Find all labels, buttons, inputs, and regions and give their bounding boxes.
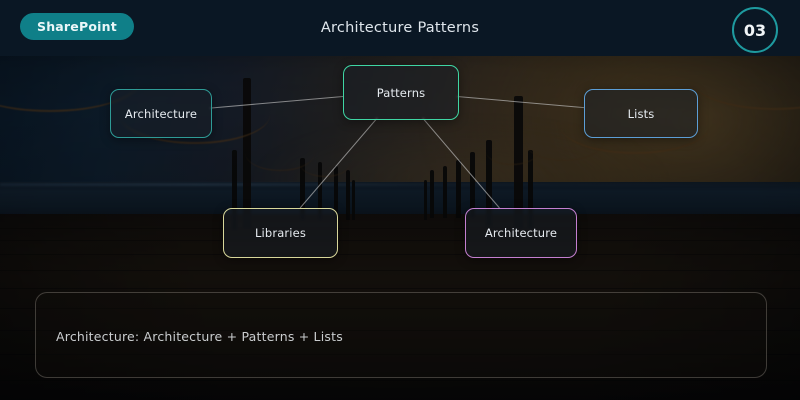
- diagram-node-architecture-2[interactable]: Architecture: [465, 208, 577, 258]
- diagram-node-label: Architecture: [485, 226, 557, 240]
- header-bar: SharePoint Architecture Patterns 03: [0, 0, 800, 56]
- diagram-node-lists[interactable]: Lists: [584, 89, 698, 138]
- diagram-edge: [423, 118, 500, 208]
- diagram-node-architecture[interactable]: Architecture: [110, 89, 212, 138]
- diagram-node-libraries[interactable]: Libraries: [223, 208, 338, 258]
- slide-number-label: 03: [744, 21, 766, 40]
- slide-number-badge: 03: [732, 7, 778, 53]
- diagram-edge: [457, 96, 584, 107]
- diagram-node-label: Architecture: [125, 107, 197, 121]
- caption-panel: Architecture: Architecture + Patterns + …: [35, 292, 767, 378]
- diagram-node-label: Lists: [628, 107, 655, 121]
- slide-root: SharePoint Architecture Patterns 03 Arch…: [0, 0, 800, 400]
- diagram-node-label: Patterns: [377, 86, 426, 100]
- caption-text: Architecture: Architecture + Patterns + …: [56, 329, 343, 344]
- diagram-edge: [300, 118, 377, 208]
- diagram-node-label: Libraries: [255, 226, 306, 240]
- diagram-edge: [210, 96, 343, 108]
- diagram-node-patterns[interactable]: Patterns: [343, 65, 459, 120]
- page-title: Architecture Patterns: [0, 0, 800, 56]
